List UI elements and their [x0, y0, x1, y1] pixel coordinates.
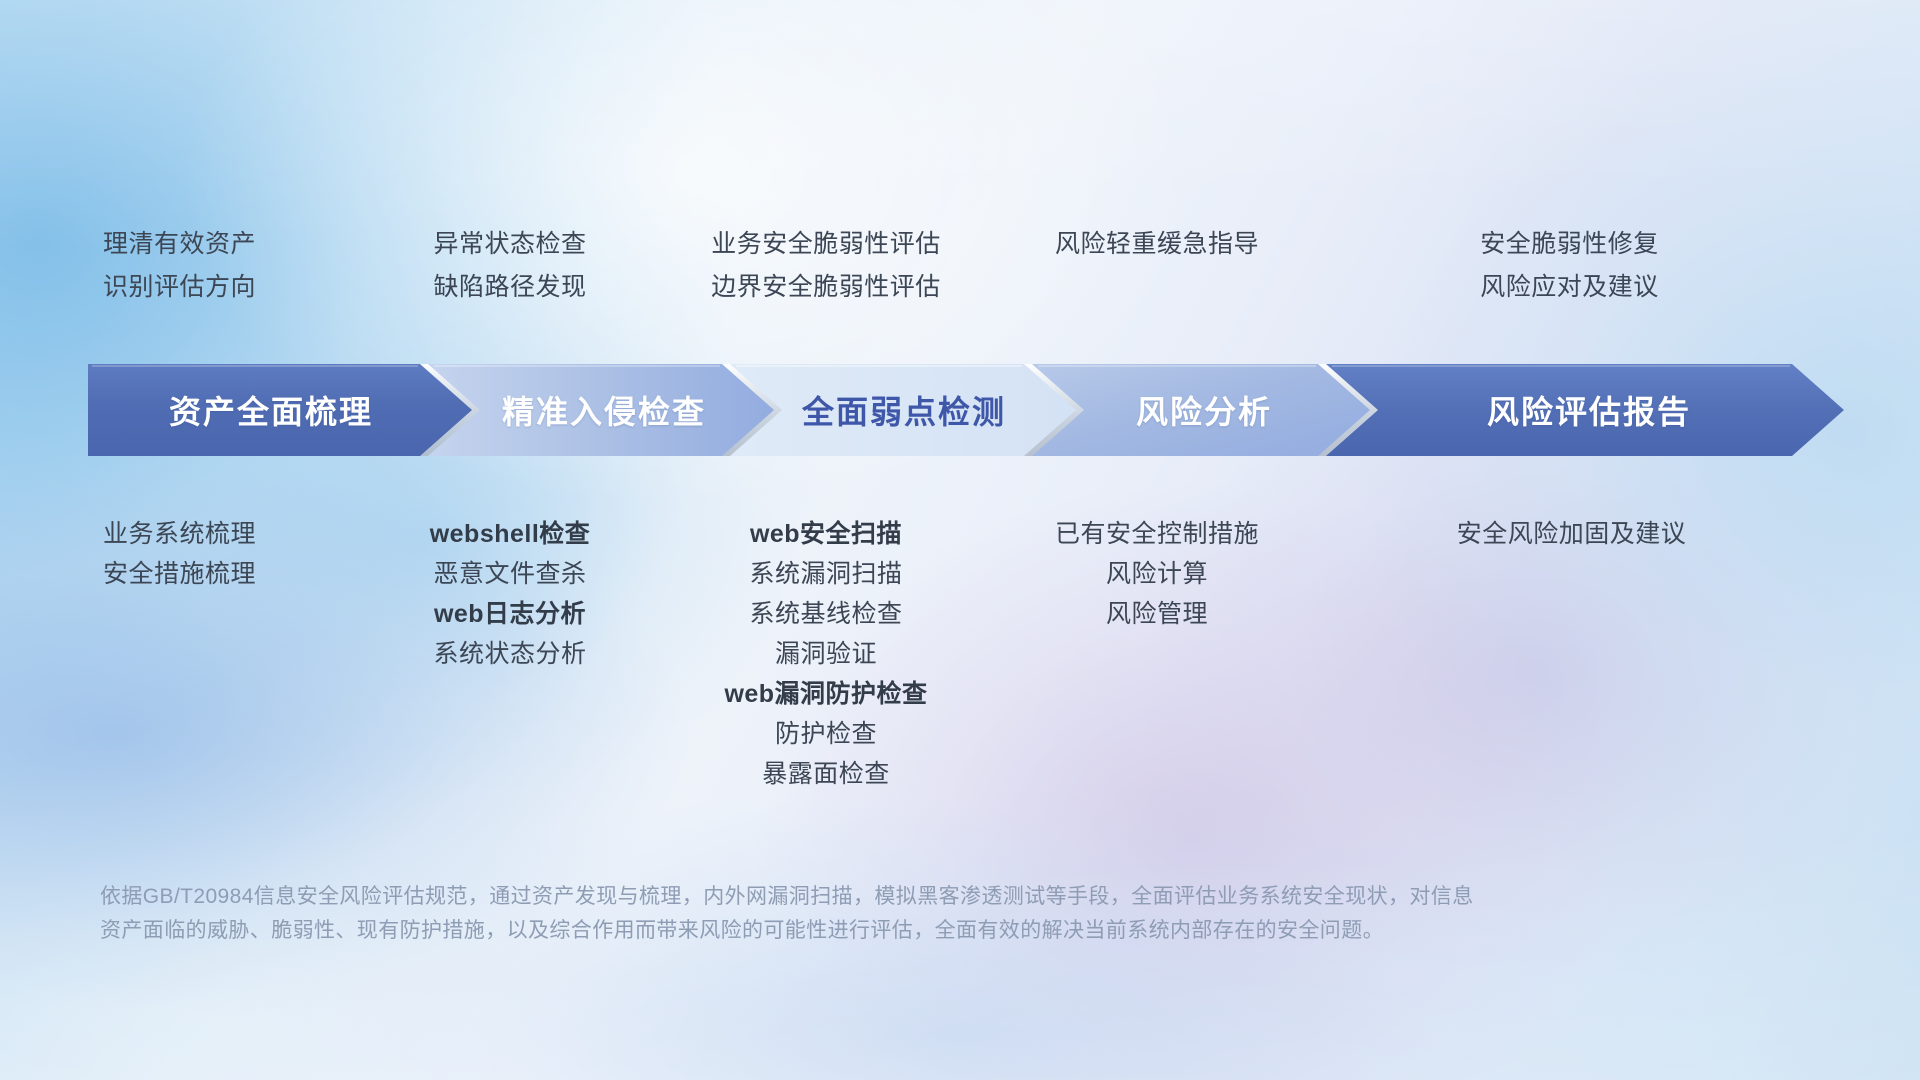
activity-item: 漏洞验证 [775, 642, 877, 667]
outcome-label: 风险轻重缓急指导 [1055, 232, 1259, 257]
activity-item: 风险计算 [1106, 562, 1208, 587]
slide-canvas: 理清有效资产 识别评估方向 异常状态检查 缺陷路径发现 业务安全脆弱性评估 边界… [0, 0, 1920, 1080]
outcome-label: 安全脆弱性修复 [1480, 232, 1659, 257]
activity-item: 系统基线检查 [749, 602, 902, 627]
outcome-label: 业务安全脆弱性评估 [711, 232, 941, 257]
outcomes-asset-inventory: 理清有效资产 识别评估方向 [0, 232, 355, 300]
activity-item: 风险管理 [1106, 602, 1208, 627]
activity-item: 系统状态分析 [433, 642, 586, 667]
activity-item: web日志分析 [434, 602, 586, 627]
activities-weakness-detection: web安全扫描 系统漏洞扫描 系统基线检查 漏洞验证 web漏洞防护检查 防护检… [655, 522, 985, 787]
stage-title-risk-report[interactable]: 风险评估报告 [1354, 364, 1824, 456]
outcome-label: 缺陷路径发现 [433, 275, 586, 300]
outcomes-weakness-detection: 业务安全脆弱性评估 边界安全脆弱性评估 [655, 232, 985, 300]
activity-item: 系统漏洞扫描 [749, 562, 902, 587]
outcome-label: 理清有效资产 [103, 232, 256, 257]
outcome-label: 异常状态检查 [433, 232, 586, 257]
activities-risk-analysis: 已有安全控制措施 风险计算 风险管理 [985, 522, 1315, 787]
activity-item: 安全措施梳理 [103, 562, 256, 587]
stage-title-weakness-detection[interactable]: 全面弱点检测 [754, 364, 1054, 456]
activity-item: 业务系统梳理 [103, 522, 256, 547]
process-arrow-band: 资产全面梳理 精准入侵检查 全面弱点检测 风险分析 风险评估报告 [88, 364, 1844, 456]
footer-description: 依据GB/T20984信息安全风险评估规范，通过资产发现与梳理，内外网漏洞扫描，… [100, 880, 1740, 948]
outcome-label: 风险应对及建议 [1480, 275, 1659, 300]
footer-line-1: 依据GB/T20984信息安全风险评估规范，通过资产发现与梳理，内外网漏洞扫描，… [100, 880, 1740, 914]
footer-line-2: 资产面临的威胁、脆弱性、现有防护措施，以及综合作用而带来风险的可能性进行评估，全… [100, 914, 1740, 948]
activities-risk-report: 安全风险加固及建议 [1315, 522, 1920, 787]
activity-item: 安全风险加固及建议 [1457, 522, 1687, 547]
activities-row: 业务系统梳理 安全措施梳理 webshell检查 恶意文件查杀 web日志分析 … [0, 522, 1920, 787]
outcomes-intrusion-check: 异常状态检查 缺陷路径发现 [355, 232, 655, 300]
stage-title-intrusion-check[interactable]: 精准入侵检查 [454, 364, 754, 456]
activity-item: 已有安全控制措施 [1055, 522, 1259, 547]
activity-item: 防护检查 [775, 722, 877, 747]
outcomes-risk-analysis: 风险轻重缓急指导 [985, 232, 1315, 300]
activity-item: webshell检查 [430, 522, 591, 547]
slide-content: 理清有效资产 识别评估方向 异常状态检查 缺陷路径发现 业务安全脆弱性评估 边界… [0, 0, 1920, 1080]
activities-asset-inventory: 业务系统梳理 安全措施梳理 [0, 522, 355, 787]
outcome-label: 边界安全脆弱性评估 [711, 275, 941, 300]
activity-item: web安全扫描 [750, 522, 902, 547]
activity-item: 暴露面检查 [762, 762, 890, 787]
outcomes-risk-report: 安全脆弱性修复 风险应对及建议 [1315, 232, 1920, 300]
activity-item: web漏洞防护检查 [724, 682, 927, 707]
outcome-label: 识别评估方向 [103, 275, 256, 300]
stage-title-risk-analysis[interactable]: 风险分析 [1054, 364, 1354, 456]
stage-title-asset-inventory[interactable]: 资产全面梳理 [88, 364, 454, 456]
activity-item: 恶意文件查杀 [433, 562, 586, 587]
outcomes-row: 理清有效资产 识别评估方向 异常状态检查 缺陷路径发现 业务安全脆弱性评估 边界… [0, 232, 1920, 300]
activities-intrusion-check: webshell检查 恶意文件查杀 web日志分析 系统状态分析 [355, 522, 655, 787]
